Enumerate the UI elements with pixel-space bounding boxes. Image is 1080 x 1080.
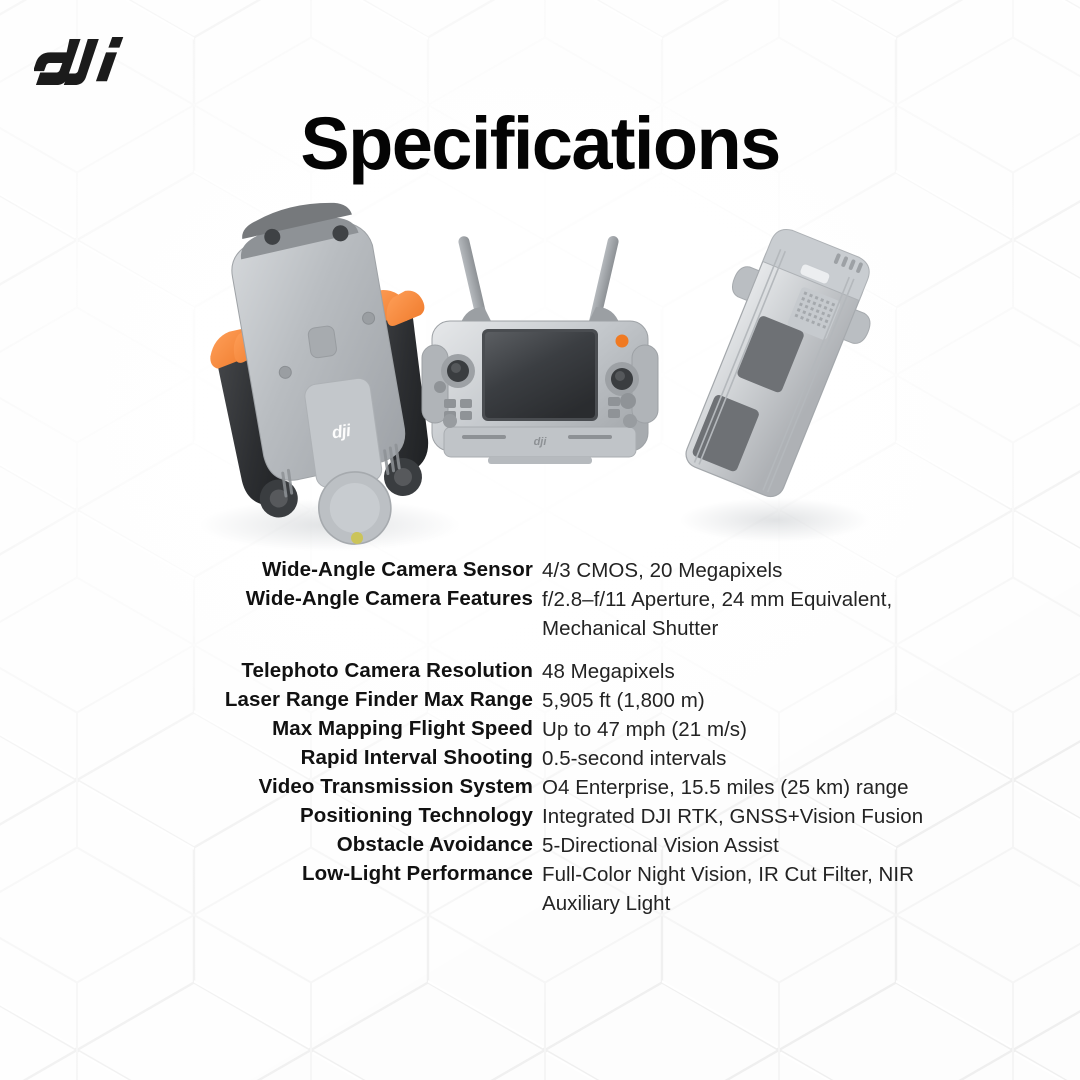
drone-folded-icon: dji bbox=[191, 190, 456, 561]
spec-row: Video Transmission SystemO4 Enterprise, … bbox=[0, 773, 1080, 802]
spec-row: Telephoto Camera Resolution48 Megapixels bbox=[0, 657, 1080, 686]
spec-value: Full-Color Night Vision, IR Cut Filter, … bbox=[533, 860, 1080, 918]
spec-value: f/2.8–f/11 Aperture, 24 mm Equivalent,Me… bbox=[533, 585, 1080, 643]
spec-label: Laser Range Finder Max Range bbox=[0, 686, 533, 713]
dji-logo-icon bbox=[34, 36, 130, 88]
spec-value-line: Full-Color Night Vision, IR Cut Filter, … bbox=[542, 860, 1080, 889]
spec-value: 5-Directional Vision Assist bbox=[533, 831, 1080, 860]
svg-text:dji: dji bbox=[534, 436, 548, 448]
spec-row: Laser Range Finder Max Range 5,905 ft (1… bbox=[0, 686, 1080, 715]
battery-icon bbox=[663, 217, 892, 508]
spec-value-line: 5-Directional Vision Assist bbox=[542, 831, 1080, 860]
spec-value: Up to 47 mph (21 m/s) bbox=[533, 715, 1080, 744]
spec-value: 5,905 ft (1,800 m) bbox=[533, 686, 1080, 715]
spec-value-line: Integrated DJI RTK, GNSS+Vision Fusion bbox=[542, 802, 1080, 831]
spec-label: Wide-Angle Camera Features bbox=[0, 585, 533, 612]
spec-value: 48 Megapixels bbox=[533, 657, 1080, 686]
page-title: Specifications bbox=[0, 101, 1080, 187]
spec-label: Wide-Angle Camera Sensor bbox=[0, 556, 533, 583]
spec-value: O4 Enterprise, 15.5 miles (25 km) range bbox=[533, 773, 1080, 802]
spec-label: Telephoto Camera Resolution bbox=[0, 657, 533, 684]
spec-label: Low-Light Performance bbox=[0, 860, 533, 887]
spec-value: 4/3 CMOS, 20 Megapixels bbox=[533, 556, 1080, 585]
spec-row: Low-Light PerformanceFull-Color Night Vi… bbox=[0, 860, 1080, 918]
product-hero-illustration: dji bbox=[0, 175, 1080, 565]
spec-value-line: Auxiliary Light bbox=[542, 889, 1080, 918]
spec-value-line: Up to 47 mph (21 m/s) bbox=[542, 715, 1080, 744]
spec-label: Positioning Technology bbox=[0, 802, 533, 829]
specifications-table: Wide-Angle Camera Sensor4/3 CMOS, 20 Meg… bbox=[0, 556, 1080, 918]
spec-value-line: 0.5-second intervals bbox=[542, 744, 1080, 773]
spec-label: Video Transmission System bbox=[0, 773, 533, 800]
spec-label: Rapid Interval Shooting bbox=[0, 744, 533, 771]
spec-value-line: 4/3 CMOS, 20 Megapixels bbox=[542, 556, 1080, 585]
spec-row: Rapid Interval Shooting0.5-second interv… bbox=[0, 744, 1080, 773]
spec-value-line: Mechanical Shutter bbox=[542, 614, 1080, 643]
spec-row: Positioning TechnologyIntegrated DJI RTK… bbox=[0, 802, 1080, 831]
spec-value: 0.5-second intervals bbox=[533, 744, 1080, 773]
spec-label: Max Mapping Flight Speed bbox=[0, 715, 533, 742]
spec-value-line: f/2.8–f/11 Aperture, 24 mm Equivalent, bbox=[542, 585, 1080, 614]
spec-row: Wide-Angle Camera Sensor4/3 CMOS, 20 Meg… bbox=[0, 556, 1080, 585]
spec-row: Wide-Angle Camera Featuresf/2.8–f/11 Ape… bbox=[0, 585, 1080, 643]
spec-value: Integrated DJI RTK, GNSS+Vision Fusion bbox=[533, 802, 1080, 831]
poster-canvas: Specifications bbox=[0, 0, 1080, 1080]
spec-value-line: 5,905 ft (1,800 m) bbox=[542, 686, 1080, 715]
remote-controller-icon: dji bbox=[422, 235, 658, 464]
spec-row: Obstacle Avoidance 5-Directional Vision … bbox=[0, 831, 1080, 860]
spec-row: Max Mapping Flight SpeedUp to 47 mph (21… bbox=[0, 715, 1080, 744]
spec-label: Obstacle Avoidance bbox=[0, 831, 533, 858]
spec-value-line: 48 Megapixels bbox=[542, 657, 1080, 686]
spec-value-line: O4 Enterprise, 15.5 miles (25 km) range bbox=[542, 773, 1080, 802]
